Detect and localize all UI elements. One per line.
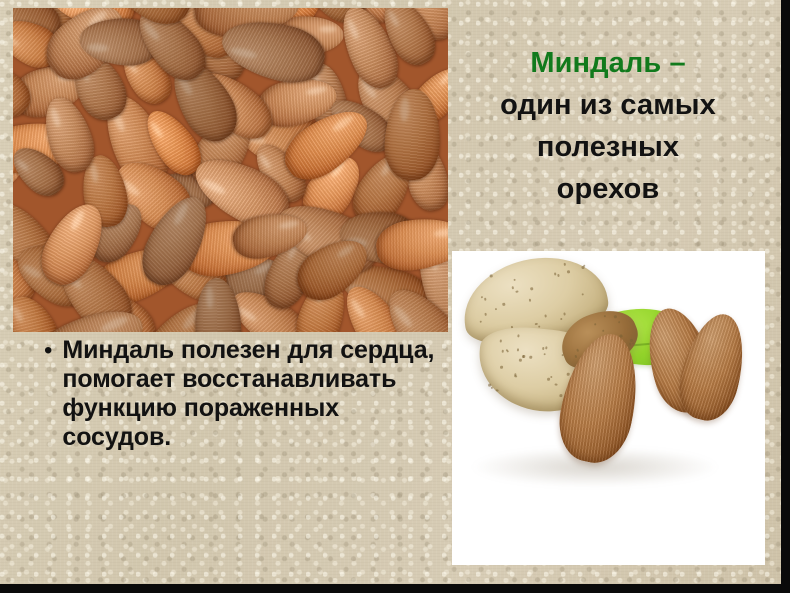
shell-pore bbox=[544, 315, 547, 318]
shell-pore bbox=[567, 270, 570, 273]
shell-pore bbox=[531, 287, 534, 290]
shell-pore bbox=[557, 274, 560, 277]
shell-pore bbox=[490, 387, 493, 390]
shell-pore bbox=[480, 296, 483, 299]
shell-pore bbox=[484, 313, 487, 316]
shell-pore bbox=[513, 279, 516, 282]
shell-pore bbox=[603, 314, 606, 317]
shell-pore bbox=[499, 340, 502, 343]
shell-pore bbox=[574, 355, 577, 358]
bullet-marker-icon: • bbox=[44, 336, 52, 452]
shell-pore bbox=[555, 383, 558, 386]
shell-pore bbox=[602, 329, 605, 332]
title-line-2: один из самых bbox=[452, 84, 764, 126]
shell-pore bbox=[614, 315, 617, 318]
title-line-accent: Миндаль – bbox=[452, 42, 764, 84]
shell-pore bbox=[594, 323, 597, 326]
shell-pore bbox=[516, 349, 519, 352]
title-line-4: орехов bbox=[452, 168, 764, 210]
title-line-3: полезных bbox=[452, 126, 764, 168]
shell-pore bbox=[500, 366, 503, 369]
shell-pore bbox=[495, 308, 498, 311]
shell-pore bbox=[479, 320, 482, 323]
shell-pore bbox=[543, 353, 546, 356]
shell-pore bbox=[631, 342, 634, 345]
bullet-list: • Миндаль полезен для сердца, помогает в… bbox=[44, 336, 444, 452]
shell-pore bbox=[560, 318, 563, 321]
slide-title: Миндаль – один из самых полезных орехов bbox=[452, 42, 764, 210]
shell-pore bbox=[529, 356, 532, 359]
shell-pore bbox=[547, 378, 550, 381]
almond-pile-photo bbox=[13, 8, 448, 332]
shell-pore bbox=[583, 264, 586, 267]
frame-edge-bottom bbox=[0, 584, 790, 593]
shell-pore bbox=[542, 347, 545, 350]
shell-pore bbox=[501, 350, 504, 353]
shell-pore bbox=[545, 347, 548, 350]
shell-pore bbox=[528, 299, 531, 302]
shell-pore bbox=[517, 335, 520, 338]
shell-pore bbox=[511, 286, 514, 289]
shell-pore bbox=[563, 312, 566, 315]
shell-pore bbox=[567, 373, 570, 376]
shell-pore bbox=[484, 298, 487, 301]
bullet-item-text: Миндаль полезен для сердца, помогает вос… bbox=[62, 336, 444, 452]
shell-pore bbox=[550, 375, 553, 378]
almond-shells-leaf-photo bbox=[452, 251, 765, 565]
slide-canvas: Миндаль – один из самых полезных орехов … bbox=[0, 0, 790, 593]
shell-pore bbox=[516, 290, 519, 293]
shell-pore bbox=[502, 303, 505, 306]
shell-pore bbox=[576, 349, 579, 352]
shell-pore bbox=[554, 273, 557, 276]
shell-pore bbox=[559, 394, 562, 397]
shell-pore bbox=[618, 321, 621, 324]
shell-pore bbox=[519, 359, 522, 362]
frame-edge-right bbox=[781, 0, 790, 593]
shell-pore bbox=[490, 275, 493, 278]
shell-pore bbox=[581, 293, 584, 296]
shell-pore bbox=[488, 384, 491, 387]
shell-pore bbox=[563, 263, 566, 266]
shell-pore bbox=[496, 389, 499, 392]
